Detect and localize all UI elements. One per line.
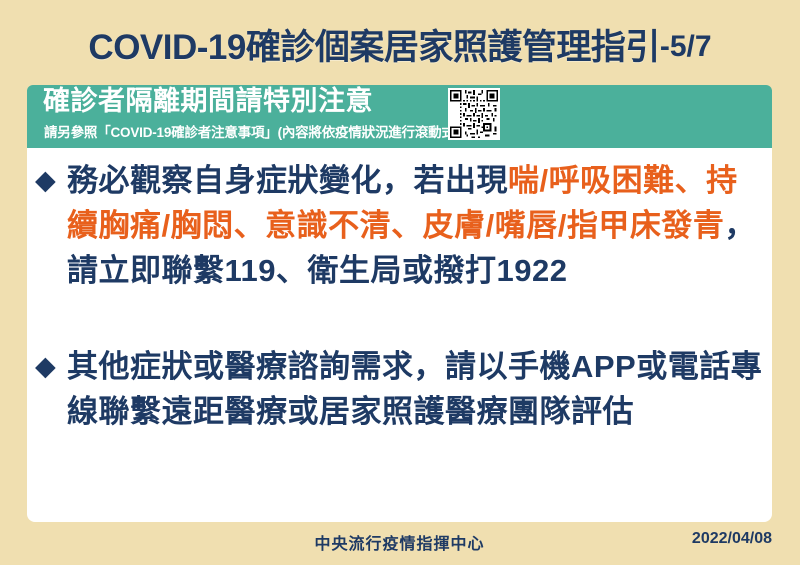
footer-date: 2022/04/08	[692, 530, 772, 548]
diamond-bullet-icon: ◆	[35, 158, 65, 203]
bullet-2-text: 其他症狀或醫療諮詢需求，請以手機APP或電話專線聯繫遠距醫療或居家照護醫療團隊評…	[67, 344, 765, 434]
footer: 中央流行疫情指揮中心 2022/04/08	[27, 530, 772, 556]
bullet-item-2: ◆ 其他症狀或醫療諮詢需求，請以手機APP或電話專線聯繫遠距醫療或居家照護醫療團…	[35, 344, 765, 434]
footer-organization: 中央流行疫情指揮中心	[27, 530, 772, 554]
notice-band-subtitle: 請另參照「COVID-19確診者注意事項」(內容將依疫情狀況進行滾動式調整)	[44, 121, 486, 141]
page-title: COVID-19確診個案居家照護管理指引-5/7	[0, 22, 800, 72]
poster-root: COVID-19確診個案居家照護管理指引-5/7 確診者隔離期間請特別注意 請另…	[0, 0, 800, 565]
qr-code-icon[interactable]	[448, 88, 500, 140]
bullet-1-text: 務必觀察自身症狀變化，若出現喘/呼吸困難、持續胸痛/胸悶、意識不清、皮膚/嘴唇/…	[67, 158, 765, 293]
content-panel: ◆ 務必觀察自身症狀變化，若出現喘/呼吸困難、持續胸痛/胸悶、意識不清、皮膚/嘴…	[27, 148, 772, 522]
page-title-main: COVID-19確診個案居家照護管理指引	[88, 30, 659, 65]
notice-band-heading: 確診者隔離期間請特別注意	[43, 86, 373, 117]
bullet-1-seg-1: 務必觀察自身症狀變化，若出現	[67, 163, 508, 198]
page-title-suffix: -5/7	[660, 30, 712, 64]
diamond-bullet-icon: ◆	[35, 344, 65, 389]
bullet-item-1: ◆ 務必觀察自身症狀變化，若出現喘/呼吸困難、持續胸痛/胸悶、意識不清、皮膚/嘴…	[35, 158, 765, 293]
notice-band: 確診者隔離期間請特別注意 請另參照「COVID-19確診者注意事項」(內容將依疫…	[27, 85, 772, 148]
